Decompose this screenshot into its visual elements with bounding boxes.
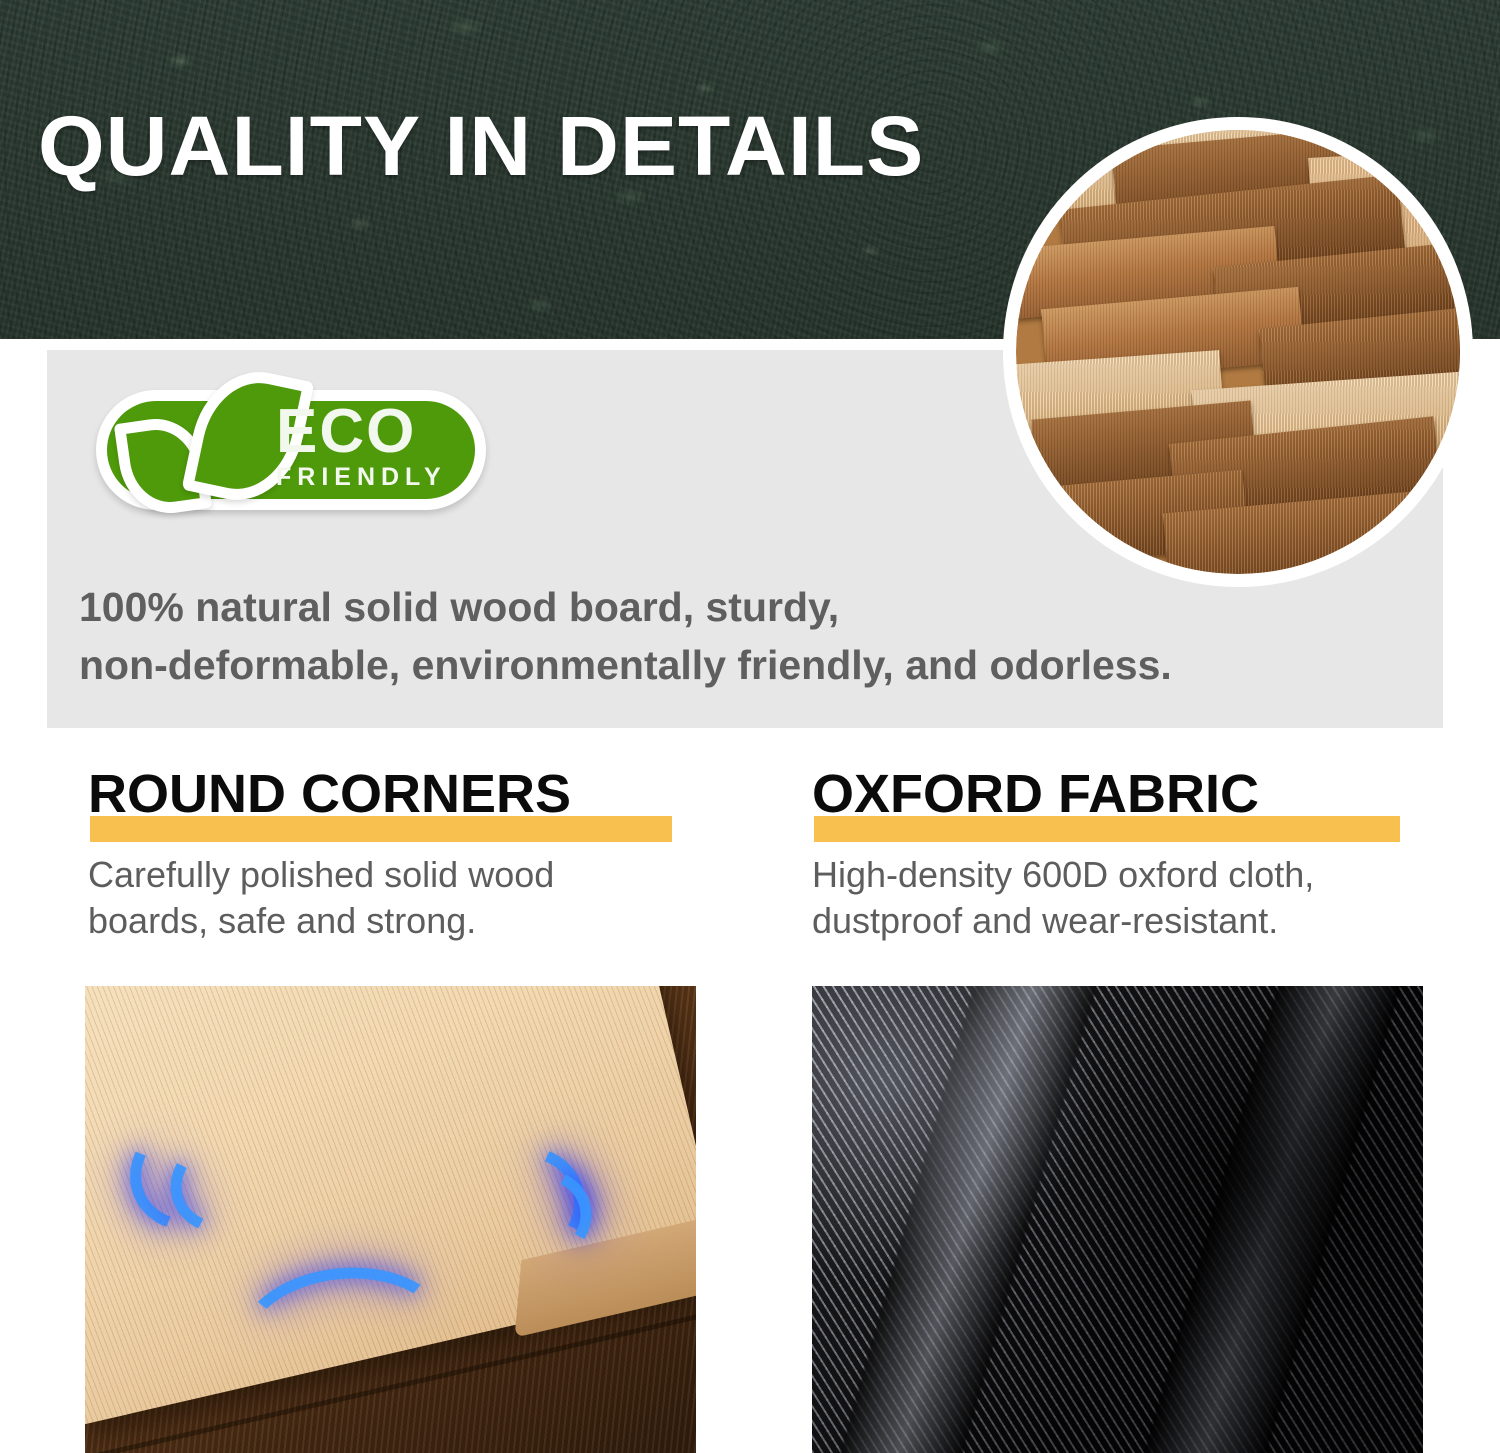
eco-description: 100% natural solid wood board, sturdy, n… [79, 578, 1419, 694]
badge-main-label: ECO [276, 404, 486, 460]
eco-description-line-1: 100% natural solid wood board, sturdy, [79, 578, 1419, 636]
feature-description: Carefully polished solid wood boards, sa… [88, 852, 698, 944]
page-title: QUALITY IN DETAILS [38, 104, 924, 188]
feature-description-line-2: boards, safe and strong. [88, 898, 698, 944]
badge-sub-label: FRIENDLY [276, 463, 486, 491]
eco-friendly-badge: ECO FRIENDLY [76, 368, 506, 528]
feature-heading-wrap: OXFORD FABRIC [812, 766, 1424, 846]
wood-planks-circle-image [1003, 117, 1473, 587]
fabric-scene [812, 986, 1423, 1453]
feature-heading-wrap: ROUND CORNERS [88, 766, 698, 846]
fabric-shading [812, 986, 1423, 1453]
feature-description-line-2: dustproof and wear-resistant. [812, 898, 1424, 944]
badge-text-group: ECO FRIENDLY [276, 404, 486, 491]
oxford-fabric-photo [812, 986, 1423, 1453]
wood-planks-photo [1016, 130, 1460, 574]
feature-heading: OXFORD FABRIC [812, 766, 1259, 822]
feature-heading: ROUND CORNERS [88, 766, 571, 822]
wood-corner-scene [85, 986, 696, 1453]
feature-description-line-1: Carefully polished solid wood [88, 852, 698, 898]
feature-column-round-corners: ROUND CORNERS Carefully polished solid w… [88, 766, 698, 944]
feature-column-oxford-fabric: OXFORD FABRIC High-density 600D oxford c… [812, 766, 1424, 944]
rounded-corner-photo [85, 986, 696, 1453]
feature-description: High-density 600D oxford cloth, dustproo… [812, 852, 1424, 944]
eco-description-line-2: non-deformable, environmentally friendly… [79, 636, 1419, 694]
feature-description-line-1: High-density 600D oxford cloth, [812, 852, 1424, 898]
